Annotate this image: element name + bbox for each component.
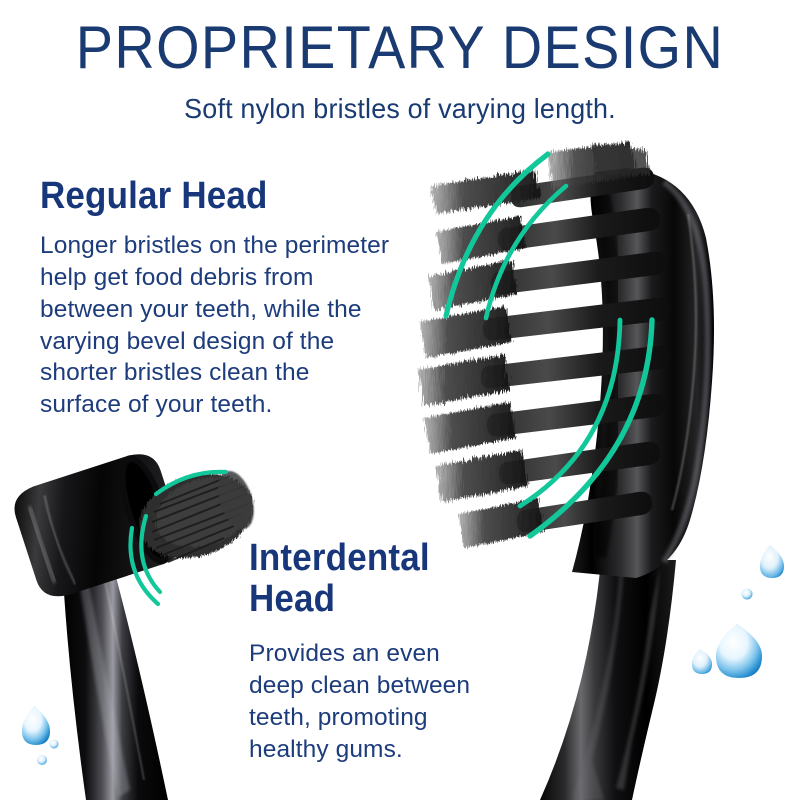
- water-droplet: [760, 545, 784, 578]
- brush-handle-right: [540, 560, 676, 800]
- water-droplet: [692, 649, 712, 674]
- section-heading-interdental-head: Interdental Head: [249, 538, 430, 620]
- section-body-regular-head: Longer bristles on the perimeter help ge…: [40, 230, 450, 421]
- infographic-canvas: PROPRIETARY DESIGN Soft nylon bristles o…: [0, 0, 800, 800]
- bristle-row: [418, 346, 670, 406]
- bristle-row: [436, 208, 660, 264]
- teal-motion-arc: [156, 472, 226, 494]
- bristle-row: [430, 168, 654, 214]
- teal-motion-arc: [530, 320, 652, 536]
- teal-motion-arc: [446, 154, 548, 316]
- bristle-row: [458, 492, 652, 548]
- section-body-interdental-head: Provides an even deep clean between teet…: [249, 638, 519, 765]
- section-heading-regular-head: Regular Head: [40, 176, 268, 217]
- interdental-bristle-tuft: [128, 460, 263, 572]
- bristle-row: [420, 298, 670, 358]
- bristle-crown: [548, 142, 650, 188]
- teal-motion-arc: [130, 528, 158, 604]
- bristle-row: [436, 442, 660, 502]
- water-droplet: [37, 755, 47, 765]
- water-droplet: [22, 706, 50, 745]
- bristle-row: [428, 252, 666, 310]
- teal-motion-arc: [486, 186, 566, 318]
- interdental-head-housing: [9, 448, 189, 603]
- water-droplet: [742, 589, 753, 600]
- water-droplet: [716, 624, 762, 678]
- page-subtitle: Soft nylon bristles of varying length.: [16, 93, 784, 125]
- brush-handle-left: [62, 558, 168, 800]
- teal-motion-arc: [520, 320, 620, 506]
- water-droplet: [50, 740, 59, 749]
- bristle-row: [424, 394, 666, 454]
- page-title: PROPRIETARY DESIGN: [28, 18, 772, 78]
- bristle-rows: [418, 142, 670, 548]
- brush-head-backplate: [572, 168, 714, 578]
- interdental-toothbrush-head: [9, 448, 264, 800]
- teal-motion-arc: [141, 516, 160, 592]
